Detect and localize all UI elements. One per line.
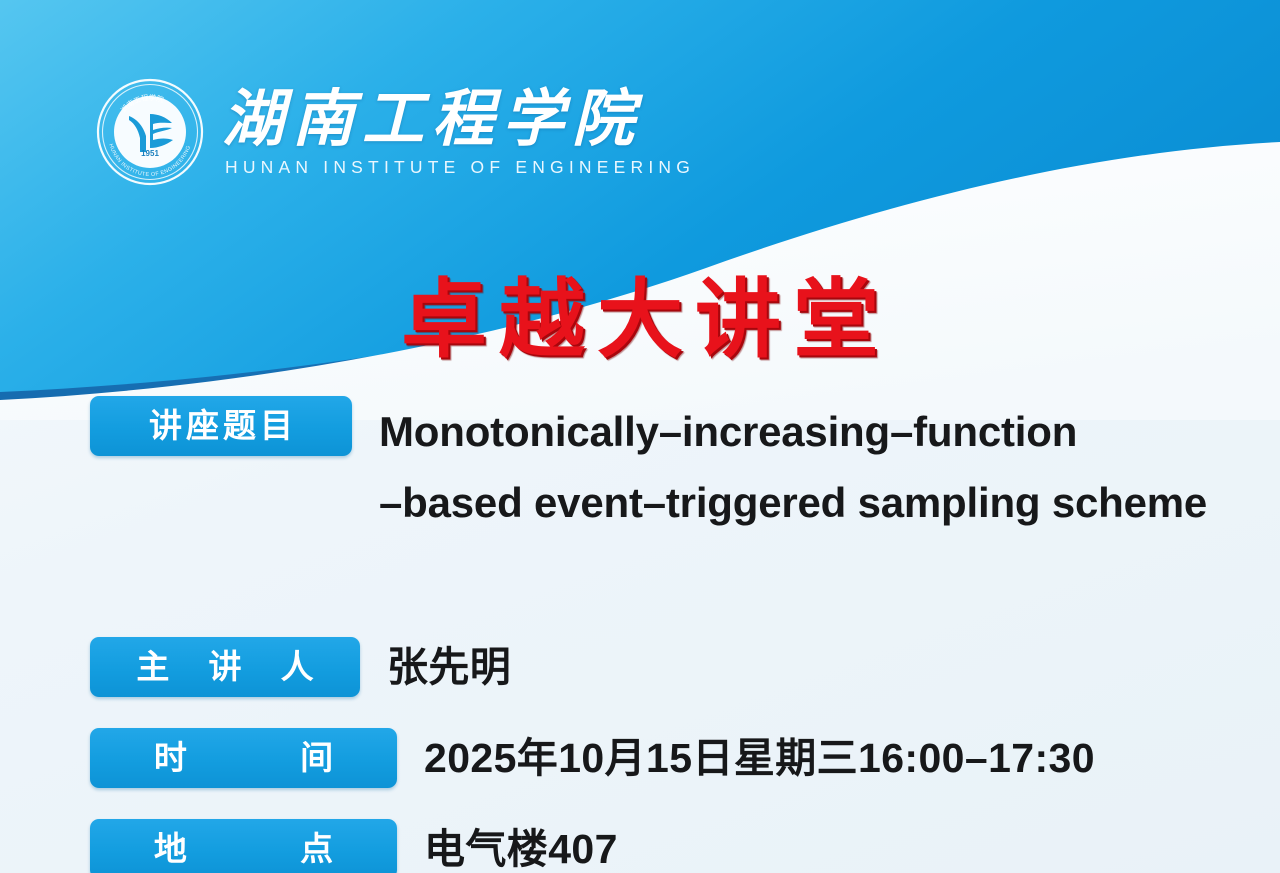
label-speaker: 主 讲 人 bbox=[90, 637, 360, 697]
lecture-topic-line-2: –based event–triggered sampling scheme bbox=[379, 467, 1207, 538]
svg-text:1951: 1951 bbox=[141, 149, 159, 158]
school-name-block: 湖南工程学院 HUNAN INSTITUTE OF ENGINEERING bbox=[222, 86, 695, 178]
detail-row-topic: 讲座题目 Monotonically–increasing–function –… bbox=[0, 396, 1280, 538]
value-lecture-topic: Monotonically–increasing–function –based… bbox=[379, 396, 1207, 538]
lecture-details: 讲座题目 Monotonically–increasing–function –… bbox=[0, 396, 1280, 873]
university-seal-icon: 1951 湖南工程学院 HUNAN INSTITUTE OF ENGINEERI… bbox=[96, 78, 204, 186]
label-lecture-topic: 讲座题目 bbox=[90, 396, 352, 456]
detail-row-location: 地 点 电气楼407 bbox=[0, 819, 1280, 873]
lecture-topic-line-1: Monotonically–increasing–function bbox=[379, 408, 1077, 455]
label-location: 地 点 bbox=[90, 819, 397, 873]
brand-lockup: 1951 湖南工程学院 HUNAN INSTITUTE OF ENGINEERI… bbox=[96, 78, 695, 186]
detail-row-speaker: 主 讲 人 张先明 bbox=[0, 637, 1280, 697]
school-name-cn: 湖南工程学院 bbox=[222, 88, 695, 152]
lecture-poster: 1951 湖南工程学院 HUNAN INSTITUTE OF ENGINEERI… bbox=[0, 0, 1280, 873]
value-speaker: 张先明 bbox=[387, 637, 511, 697]
school-name-en: HUNAN INSTITUTE OF ENGINEERING bbox=[222, 157, 695, 178]
header-artwork bbox=[0, 0, 1280, 420]
value-time: 2025年10月15日星期三16:00–17:30 bbox=[424, 728, 1095, 788]
detail-row-time: 时 间 2025年10月15日星期三16:00–17:30 bbox=[0, 728, 1280, 788]
label-time: 时 间 bbox=[90, 728, 397, 788]
value-location: 电气楼407 bbox=[424, 819, 618, 873]
